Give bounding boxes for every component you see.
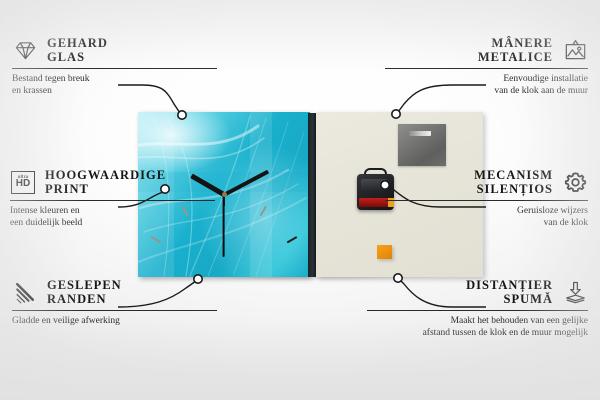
gear-icon: [562, 169, 588, 195]
feature-desc-line2: van de klok: [385, 217, 588, 229]
diamond-icon: [12, 37, 38, 63]
metal-hanger-plate: [398, 124, 446, 166]
feature-hoogwaardige-print: ultra HD HOOGWAARDIGE PRINT Intense kleu…: [10, 168, 215, 229]
feature-desc-line2: en krassen: [12, 85, 217, 97]
feature-description: Bestand tegen breuk en krassen: [12, 73, 217, 97]
ultra-hd-box: ultra HD: [11, 171, 35, 194]
feature-title: HOOGWAARDIGE PRINT: [45, 168, 166, 196]
feature-title-line1: HOOGWAARDIGE: [45, 168, 166, 182]
feature-desc-line1: Gladde en veilige afwerking: [12, 315, 217, 327]
feature-title-row: GEHARD GLAS: [12, 36, 217, 64]
clock-hand-cap: [222, 192, 227, 197]
feature-desc-line2: afstand tussen de klok en de muur mogeli…: [367, 327, 588, 339]
ultra-hd-label-main: HD: [16, 179, 30, 189]
picture-frame-hanger-icon: [562, 37, 588, 63]
feature-title: MECANISM SILENȚIOS: [474, 168, 553, 196]
feature-mecanism-silentios: MECANISM SILENȚIOS Geruisloze wijzers va…: [385, 168, 588, 229]
feature-rule: [12, 68, 217, 69]
feature-title-line1: DISTANȚIER: [466, 278, 553, 292]
feature-distantier-spuma: DISTANȚIER SPUMĂ Maakt het behouden van …: [367, 278, 588, 339]
feature-desc-line1: Maakt het behouden van een gelijke: [367, 315, 588, 327]
feature-desc-line1: Intense kleuren en: [10, 205, 215, 217]
feature-title: MÂNERE METALICE: [478, 36, 553, 64]
feature-desc-line1: Eenvoudige installatie: [385, 73, 588, 85]
feature-title-row: ultra HD HOOGWAARDIGE PRINT: [10, 168, 215, 196]
feature-title: DISTANȚIER SPUMĂ: [466, 278, 553, 306]
feature-title-row: MECANISM SILENȚIOS: [385, 168, 588, 196]
feature-title-line1: MECANISM: [474, 168, 553, 182]
feature-title-line1: GESLEPEN: [47, 278, 122, 292]
feature-title-row: GESLEPEN RANDEN: [12, 278, 217, 306]
feature-title-line2: RANDEN: [47, 292, 122, 306]
hanger-slot: [409, 131, 431, 136]
feature-title-row: DISTANȚIER SPUMĂ: [367, 278, 588, 306]
feature-rule: [385, 200, 588, 201]
feature-title-line2: SILENȚIOS: [474, 182, 553, 196]
feature-description: Maakt het behouden van een gelijke afsta…: [367, 315, 588, 339]
feature-desc-line1: Bestand tegen breuk: [12, 73, 217, 85]
feature-manere-metalice: MÂNERE METALICE Eenvoudige installatie v…: [385, 36, 588, 97]
clock-glass-edge: [308, 113, 316, 277]
infographic-canvas: GEHARD GLAS Bestand tegen breuk en krass…: [0, 0, 600, 400]
clock-second-hand: [223, 195, 225, 257]
feature-desc-line1: Geruisloze wijzers: [385, 205, 588, 217]
feature-rule: [385, 68, 588, 69]
feature-title-row: MÂNERE METALICE: [385, 36, 588, 64]
feature-title: GESLEPEN RANDEN: [47, 278, 122, 306]
feature-title-line1: GEHARD: [47, 36, 108, 50]
feature-title-line2: METALICE: [478, 50, 553, 64]
feature-geslepen-randen: GESLEPEN RANDEN Gladde en veilige afwerk…: [12, 278, 217, 327]
feature-gehard-glas: GEHARD GLAS Bestand tegen breuk en krass…: [12, 36, 217, 97]
feature-title-line2: PRINT: [45, 182, 166, 196]
feature-description: Intense kleuren en een duidelijk beeld: [10, 205, 215, 229]
feature-title-line2: GLAS: [47, 50, 108, 64]
feature-description: Geruisloze wijzers van de klok: [385, 205, 588, 229]
feature-desc-line2: van de klok aan de muur: [385, 85, 588, 97]
foam-spacer: [377, 245, 392, 259]
feature-rule: [367, 310, 588, 311]
feature-title: GEHARD GLAS: [47, 36, 108, 64]
feature-rule: [10, 200, 215, 201]
ultra-hd-icon: ultra HD: [10, 169, 36, 195]
mechanism-detail: [361, 179, 387, 191]
arrow-down-layers-icon: [562, 279, 588, 305]
diagonal-lines-icon: [12, 279, 38, 305]
feature-title-line1: MÂNERE: [478, 36, 553, 50]
feature-rule: [12, 310, 217, 311]
feature-description: Eenvoudige installatie van de klok aan d…: [385, 73, 588, 97]
feature-title-line2: SPUMĂ: [466, 292, 553, 306]
feature-desc-line2: een duidelijk beeld: [10, 217, 215, 229]
feature-description: Gladde en veilige afwerking: [12, 315, 217, 327]
